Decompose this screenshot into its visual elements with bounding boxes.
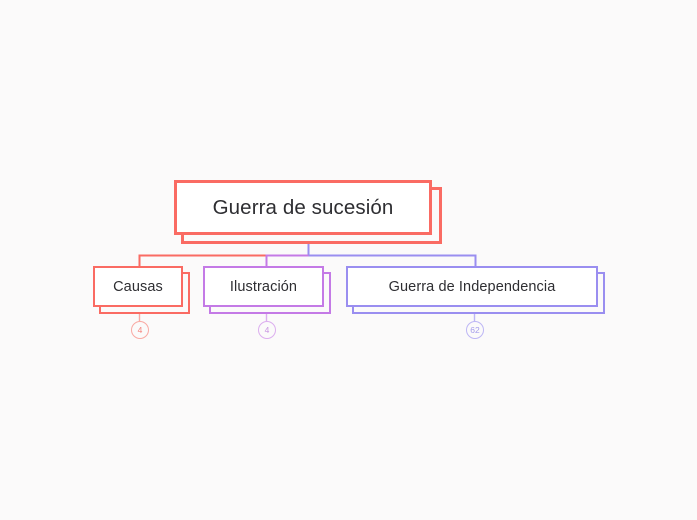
node-badge-causas-count: 4 [138, 326, 143, 335]
node-badge-independencia-count: 62 [470, 326, 479, 335]
connector-edge-ilustracion [267, 256, 309, 267]
node-badge-independencia[interactable]: 62 [466, 321, 484, 339]
connector-layer [0, 0, 697, 520]
mindmap-node-independencia[interactable]: Guerra de Independencia [346, 266, 605, 314]
node-badge-ilustracion[interactable]: 4 [258, 321, 276, 339]
connector-edge-independencia [309, 256, 476, 267]
node-badge-causas[interactable]: 4 [131, 321, 149, 339]
node-box-ilustracion[interactable]: Ilustración [203, 266, 324, 307]
node-box-independencia[interactable]: Guerra de Independencia [346, 266, 598, 307]
node-box-causas[interactable]: Causas [93, 266, 183, 307]
mindmap-node-ilustracion[interactable]: Ilustración [203, 266, 331, 314]
node-box-root[interactable]: Guerra de sucesión [174, 180, 432, 235]
mindmap-node-causas[interactable]: Causas [93, 266, 190, 314]
node-label-causas: Causas [113, 279, 163, 295]
mindmap-node-root[interactable]: Guerra de sucesión [174, 180, 442, 244]
mindmap-canvas[interactable]: Guerra de sucesión Causas 4 Ilustración … [0, 0, 697, 520]
node-label-root: Guerra de sucesión [213, 196, 394, 220]
node-badge-ilustracion-count: 4 [265, 326, 270, 335]
node-label-ilustracion: Ilustración [230, 279, 297, 295]
connector-edge-causas [140, 256, 309, 267]
node-label-independencia: Guerra de Independencia [389, 279, 556, 295]
